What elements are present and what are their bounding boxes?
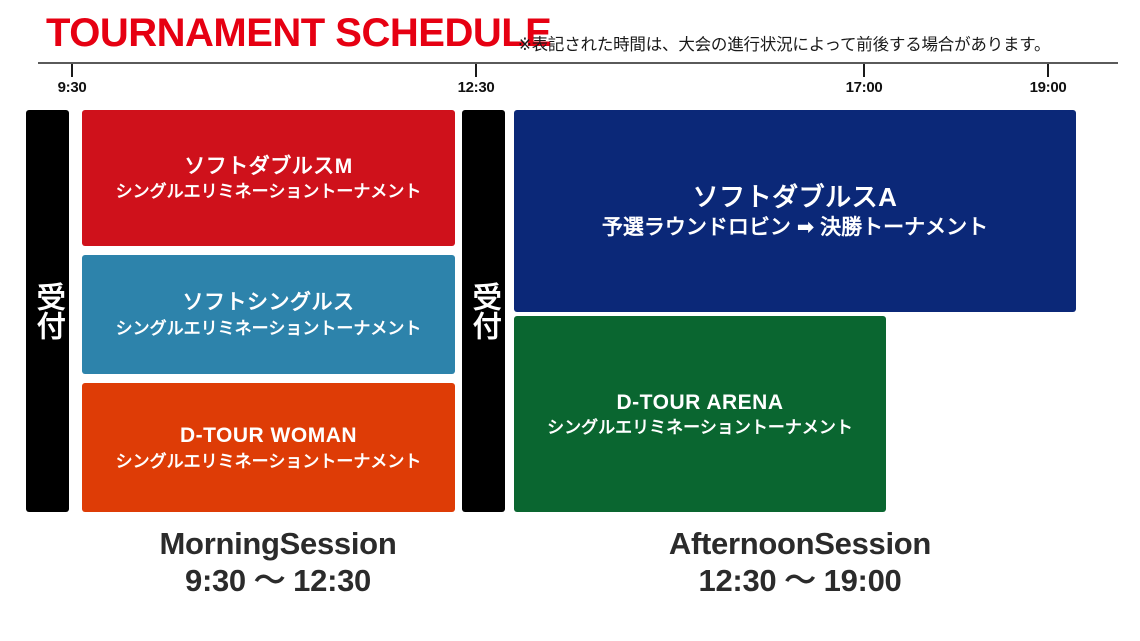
reception-label: 受付 [26,276,69,346]
event-title: D-TOUR ARENA [617,391,784,415]
reception-label: 受付 [462,276,505,346]
schedule-body: 受付受付 ソフトダブルスMシングルエリミネーショントーナメントソフトシングルスシ… [0,0,1140,641]
event-block[interactable]: ソフトダブルスMシングルエリミネーショントーナメント [82,110,455,246]
session-footer: MorningSession9:30 〜 12:30 [88,527,468,598]
event-title: ソフトダブルスM [184,155,353,179]
event-subtitle: シングルエリミネーショントーナメント [116,319,422,338]
event-subtitle: シングルエリミネーショントーナメント [116,182,422,201]
reception-bar: 受付 [462,110,505,512]
session-time-range: 9:30 〜 12:30 [88,564,468,599]
event-block[interactable]: D-TOUR WOMANシングルエリミネーショントーナメント [82,383,455,512]
session-footer: AfternoonSession12:30 〜 19:00 [605,527,995,598]
event-title: ソフトシングルス [183,291,355,315]
event-subtitle: シングルエリミネーショントーナメント [116,452,422,471]
reception-bar: 受付 [26,110,69,512]
session-name: AfternoonSession [605,527,995,562]
event-subtitle: 予選ラウンドロビン ➡ 決勝トーナメント [602,216,988,240]
session-time-range: 12:30 〜 19:00 [605,564,995,599]
event-block[interactable]: ソフトダブルスA予選ラウンドロビン ➡ 決勝トーナメント [514,110,1076,312]
session-name: MorningSession [88,527,468,562]
event-block[interactable]: D-TOUR ARENAシングルエリミネーショントーナメント [514,316,886,512]
event-subtitle: シングルエリミネーショントーナメント [547,418,853,437]
event-block[interactable]: ソフトシングルスシングルエリミネーショントーナメント [82,255,455,374]
event-title: D-TOUR WOMAN [180,424,357,448]
event-title: ソフトダブルスA [693,183,898,212]
